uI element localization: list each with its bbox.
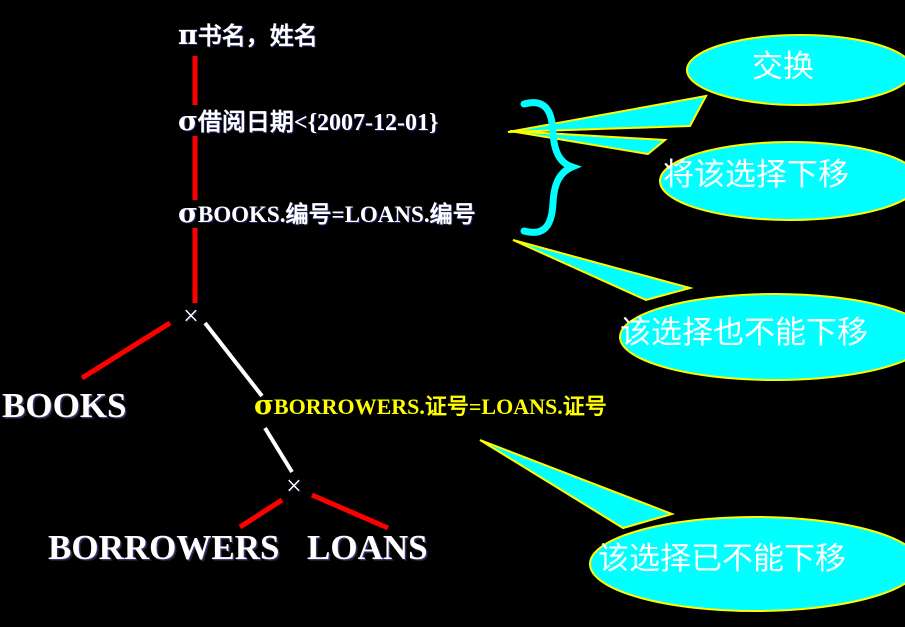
callouts-layer <box>0 0 905 627</box>
callout-already-cannot <box>480 440 905 611</box>
callout-move-down-label: 将该选择下移 <box>663 160 849 191</box>
callout-move-down-tail <box>510 131 665 154</box>
callout-exchange <box>508 35 905 132</box>
diagram-canvas: π书名，姓名 σ借阅日期<{2007-12-01} σBOOKS.编号=LOAN… <box>0 0 905 627</box>
callout-exchange-label: 交换 <box>752 52 814 83</box>
callout-already-cannot-label: 该选择已不能下移 <box>598 544 846 575</box>
callout-already-cannot-tail <box>480 440 672 528</box>
callout-also-cannot-move-label: 该选择也不能下移 <box>620 318 868 349</box>
callout-also-cannot-move-tail <box>513 240 690 300</box>
callout-also-cannot-move <box>513 240 905 380</box>
